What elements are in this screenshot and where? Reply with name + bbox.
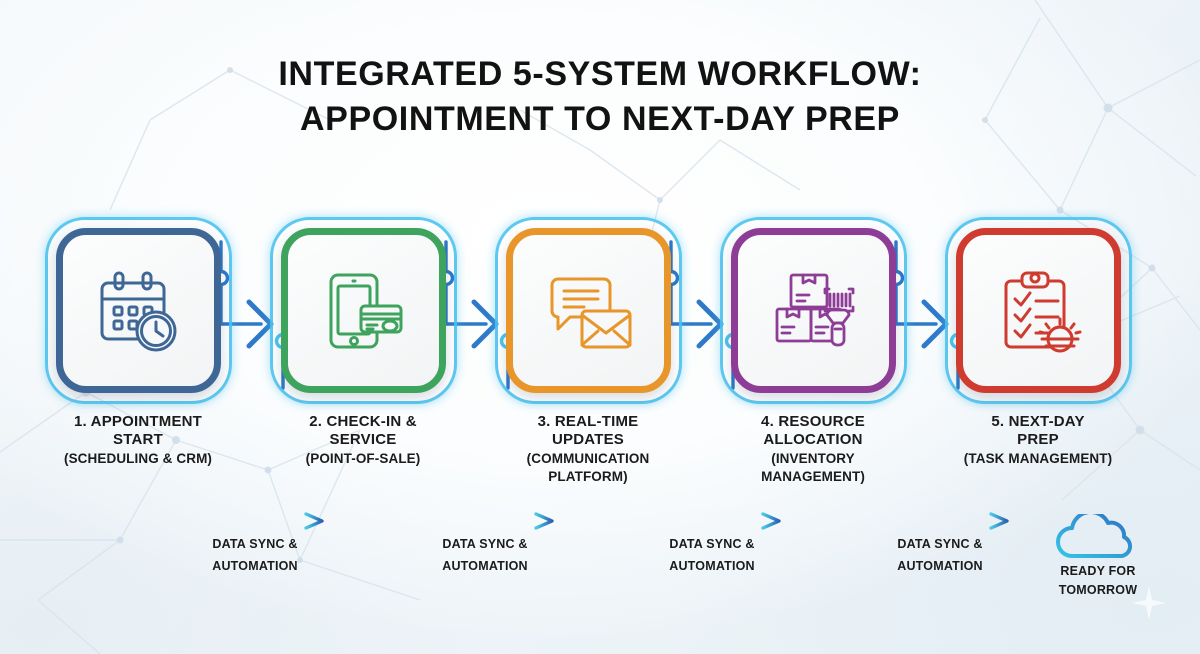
step-4-title-line-1: 4. RESOURCE	[713, 413, 913, 431]
step-5-next-day-prep[interactable]: 5. NEXT-DAY PREP (TASK MANAGEMENT)	[938, 228, 1138, 467]
clipboard-checklist-sunrise-icon	[988, 261, 1088, 361]
step-3-card[interactable]	[506, 228, 671, 393]
tablet-credit-card-icon	[313, 261, 413, 361]
sync-flow-2-caption-line-1: DATA SYNC &	[385, 537, 585, 552]
sync-flow-4-caption-line-1: DATA SYNC &	[840, 537, 1040, 552]
step-3-subtitle-line-1: (COMMUNICATION	[488, 451, 688, 467]
step-3-subtitle-line-2: PLATFORM)	[488, 469, 688, 485]
step-1-title-line-2: START	[38, 431, 238, 449]
step-5-label: 5. NEXT-DAY PREP (TASK MANAGEMENT)	[938, 413, 1138, 467]
step-3-title-line-2: UPDATES	[488, 431, 688, 449]
step-3-real-time-updates[interactable]: 3. REAL-TIME UPDATES (COMMUNICATION PLAT…	[488, 228, 688, 485]
step-4-card[interactable]	[731, 228, 896, 393]
step-1-appointment-start[interactable]: 1. APPOINTMENT START (SCHEDULING & CRM)	[38, 228, 238, 467]
sync-flow-1-caption-line-1: DATA SYNC &	[155, 537, 355, 552]
step-2-check-in-service[interactable]: 2. CHECK-IN & SERVICE (POINT-OF-SALE)	[263, 228, 463, 467]
step-4-resource-allocation[interactable]: 4. RESOURCE ALLOCATION (INVENTORY MANAGE…	[713, 228, 913, 485]
long-arrow-right-icon	[637, 512, 787, 530]
step-2-title-line-2: SERVICE	[263, 431, 463, 449]
step-5-card[interactable]	[956, 228, 1121, 393]
ready-for-tomorrow: READY FOR TOMORROW	[1012, 514, 1184, 599]
step-2-subtitle-line-1: (POINT-OF-SALE)	[263, 451, 463, 467]
data-sync-row: DATA SYNC & AUTOMATION DATA SYNC & AUTOM…	[0, 512, 1200, 592]
chat-bubble-envelope-icon	[538, 261, 638, 361]
sync-flow-3-caption-line-2: AUTOMATION	[612, 559, 812, 574]
sync-flow-3-caption-line-1: DATA SYNC &	[612, 537, 812, 552]
calendar-clock-icon	[88, 261, 188, 361]
sync-flow-2: DATA SYNC & AUTOMATION	[385, 512, 585, 575]
sync-flow-1-caption-line-2: AUTOMATION	[155, 559, 355, 574]
ready-caption-line-1: READY FOR	[1012, 564, 1184, 579]
ready-caption-line-2: TOMORROW	[1012, 583, 1184, 598]
step-2-label: 2. CHECK-IN & SERVICE (POINT-OF-SALE)	[263, 413, 463, 467]
step-4-title-line-2: ALLOCATION	[713, 431, 913, 449]
title-line-2: APPOINTMENT TO NEXT-DAY PREP	[0, 97, 1200, 142]
boxes-barcode-scanner-icon	[763, 261, 863, 361]
step-5-subtitle-line-1: (TASK MANAGEMENT)	[938, 451, 1138, 467]
page-title: INTEGRATED 5-SYSTEM WORKFLOW: APPOINTMEN…	[0, 52, 1200, 142]
step-3-title-line-1: 3. REAL-TIME	[488, 413, 688, 431]
step-3-label: 3. REAL-TIME UPDATES (COMMUNICATION PLAT…	[488, 413, 688, 485]
sync-flow-4: DATA SYNC & AUTOMATION	[840, 512, 1040, 575]
step-5-title-line-1: 5. NEXT-DAY	[938, 413, 1138, 431]
step-2-card[interactable]	[281, 228, 446, 393]
sync-flow-2-caption-line-2: AUTOMATION	[385, 559, 585, 574]
step-5-title-line-2: PREP	[938, 431, 1138, 449]
long-arrow-right-icon	[410, 512, 560, 530]
title-line-1: INTEGRATED 5-SYSTEM WORKFLOW:	[0, 52, 1200, 97]
step-1-label: 1. APPOINTMENT START (SCHEDULING & CRM)	[38, 413, 238, 467]
step-1-title-line-1: 1. APPOINTMENT	[38, 413, 238, 431]
sync-flow-3: DATA SYNC & AUTOMATION	[612, 512, 812, 575]
workflow-steps: 1. APPOINTMENT START (SCHEDULING & CRM)	[0, 228, 1200, 500]
step-2-title-line-1: 2. CHECK-IN &	[263, 413, 463, 431]
step-4-subtitle-line-2: MANAGEMENT)	[713, 469, 913, 485]
long-arrow-right-icon	[865, 512, 1015, 530]
step-1-subtitle-line-1: (SCHEDULING & CRM)	[38, 451, 238, 467]
step-1-card[interactable]	[56, 228, 221, 393]
step-4-subtitle-line-1: (INVENTORY	[713, 451, 913, 467]
sync-flow-1: DATA SYNC & AUTOMATION	[155, 512, 355, 575]
step-4-label: 4. RESOURCE ALLOCATION (INVENTORY MANAGE…	[713, 413, 913, 485]
sync-flow-4-caption-line-2: AUTOMATION	[840, 559, 1040, 574]
cloud-icon	[1052, 514, 1144, 560]
long-arrow-right-icon	[180, 512, 330, 530]
